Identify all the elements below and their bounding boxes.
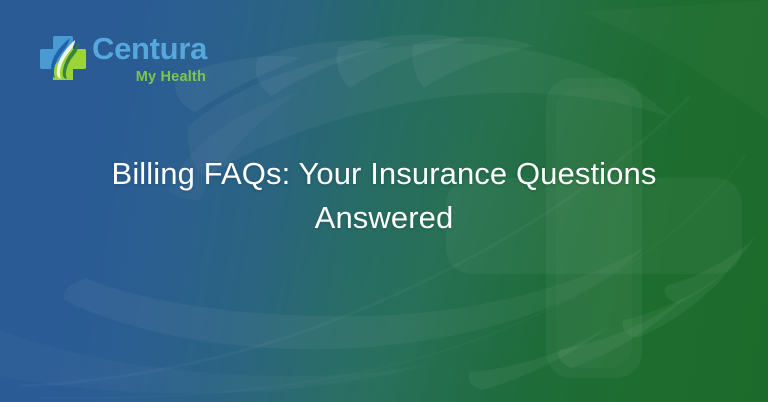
centura-my-health-logo[interactable]: Centura My Health — [40, 33, 207, 85]
logo-tagline: My Health — [136, 70, 206, 85]
page-title: Billing FAQs: Your Insurance Questions A… — [0, 152, 768, 240]
page-title-text: Billing FAQs: Your Insurance Questions A… — [56, 152, 712, 240]
hero-banner: Centura My Health Billing FAQs: Your Ins… — [0, 0, 768, 402]
logo-wordmark: Centura — [92, 33, 207, 64]
medical-cross-swoosh-icon — [40, 34, 86, 80]
